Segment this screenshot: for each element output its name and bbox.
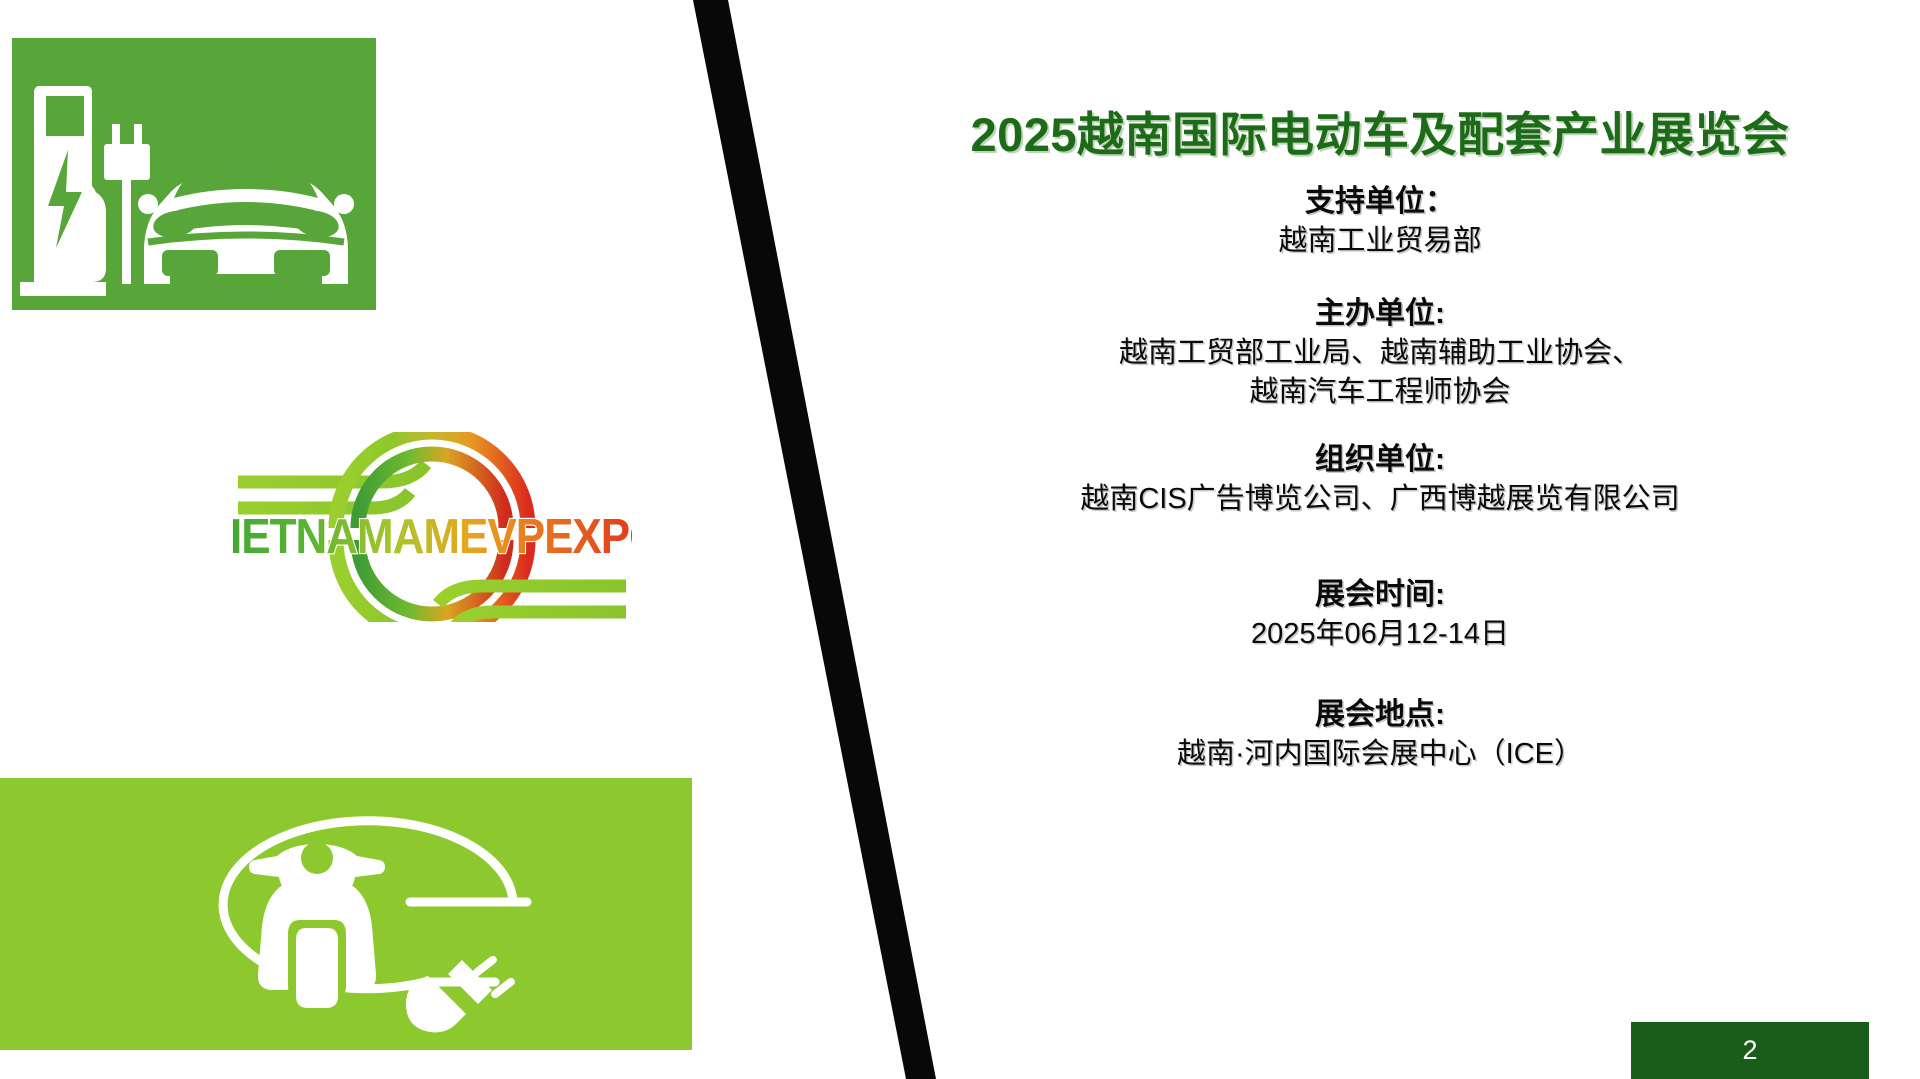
info-label-host: 主办单位: [880, 294, 1880, 334]
slide-canvas: VIETNAMAMEVPEXPO 2025越南国际电动车及配套产业展览会 支持单… [0, 0, 1920, 1079]
info-value-host-1: 越南工贸部工业局、越南辅助工业协会、 [880, 334, 1880, 373]
info-value-venue-1: 越南·河内国际会展中心（ICE） [880, 735, 1880, 774]
content-column: 2025越南国际电动车及配套产业展览会 支持单位： 越南工业贸易部 主办单位: … [880, 0, 1880, 1079]
info-block-venue: 展会地点: 越南·河内国际会展中心（ICE） [880, 695, 1880, 774]
plug-head-icon [406, 954, 516, 1032]
info-value-time-1: 2025年06月12-14日 [880, 615, 1880, 654]
electric-scooter-image [0, 778, 692, 1050]
page-number-text: 2 [1742, 1035, 1757, 1066]
info-label-support: 支持单位： [880, 182, 1880, 222]
ev-charging-car-image [12, 38, 376, 310]
info-block-host: 主办单位: 越南工贸部工业局、越南辅助工业协会、 越南汽车工程师协会 [880, 294, 1880, 412]
info-label-time: 展会时间: [880, 575, 1880, 615]
info-block-time: 展会时间: 2025年06月12-14日 [880, 575, 1880, 654]
info-block-organizer: 组织单位: 越南CIS广告博览公司、广西博越展览有限公司 [880, 440, 1880, 519]
page-number-badge: 2 [1631, 1022, 1869, 1079]
ev-charging-illustration [20, 86, 354, 296]
info-block-support: 支持单位： 越南工业贸易部 [880, 182, 1880, 261]
info-value-host-2: 越南汽车工程师协会 [880, 373, 1880, 412]
page-title: 2025越南国际电动车及配套产业展览会 [880, 96, 1880, 165]
info-label-venue: 展会地点: [880, 695, 1880, 735]
scooter-plug-illustration [223, 821, 527, 1033]
logo-wordmark: VIETNAMAMEVPEXPO [232, 509, 632, 564]
info-value-support-1: 越南工业贸易部 [880, 222, 1880, 261]
info-value-organizer-1: 越南CIS广告博览公司、广西博越展览有限公司 [880, 480, 1880, 519]
info-label-organizer: 组织单位: [880, 440, 1880, 480]
vietnam-amevp-expo-logo: VIETNAMAMEVPEXPO [232, 432, 632, 622]
